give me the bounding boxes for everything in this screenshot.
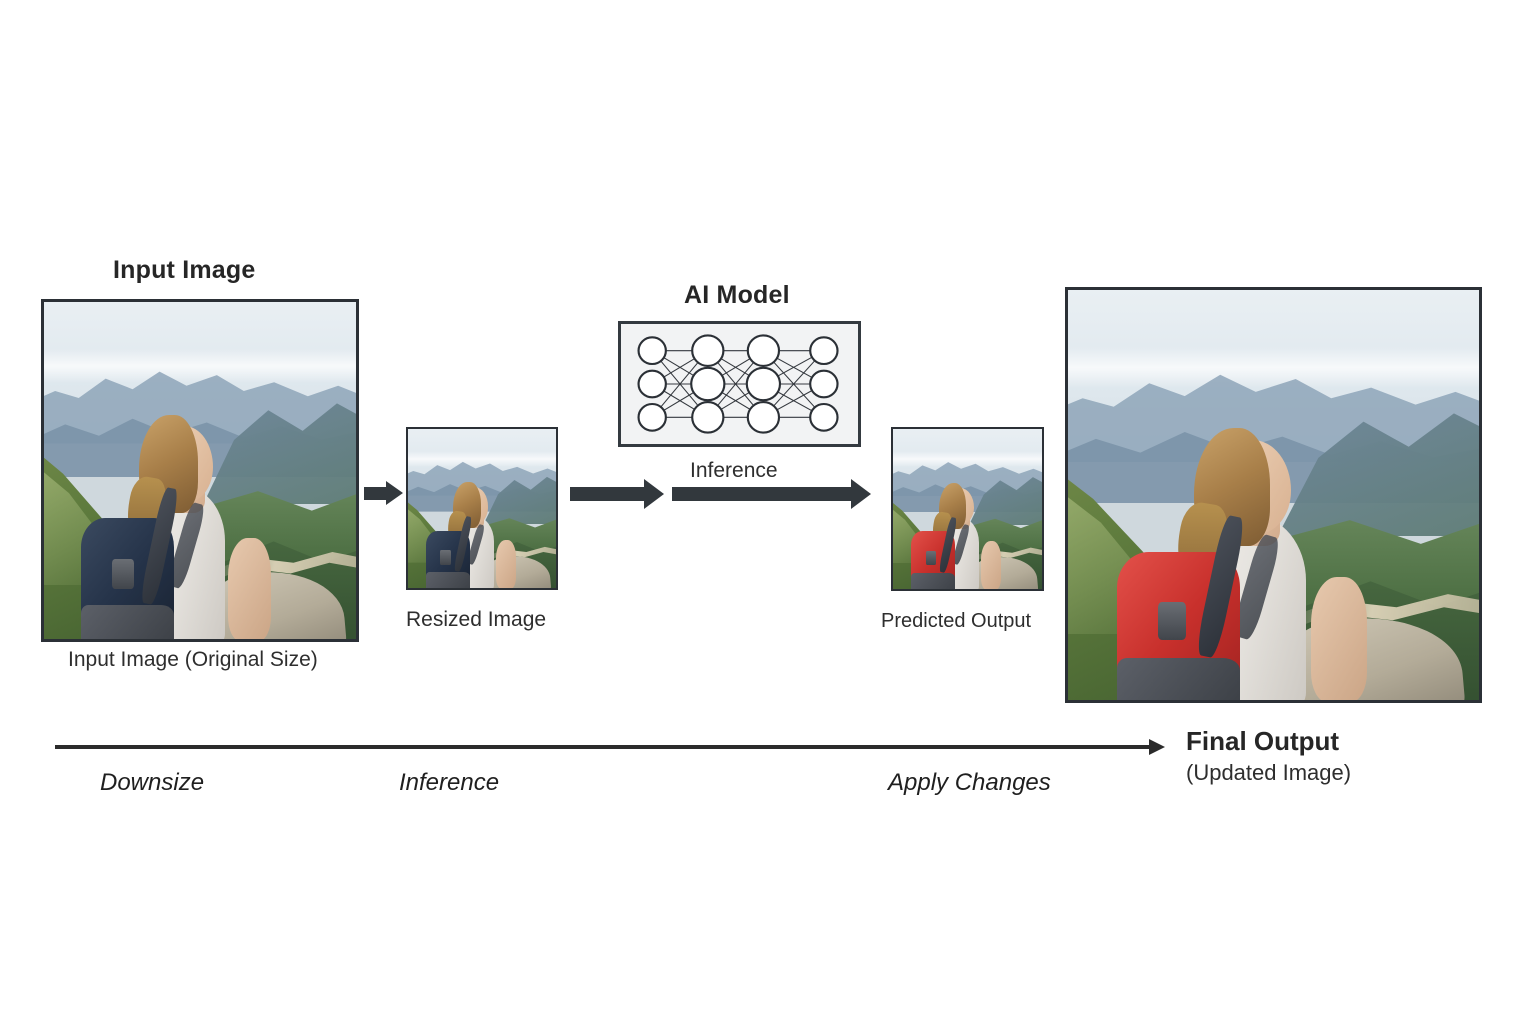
haze-band	[408, 451, 556, 467]
backpack-base	[1117, 658, 1239, 700]
haze-band	[1068, 347, 1479, 388]
backpack-buckle	[1158, 602, 1186, 639]
backpack-buckle	[112, 559, 133, 590]
final-output-photo	[1065, 287, 1482, 703]
predicted-output-photo	[891, 427, 1044, 591]
photo-scene-input	[44, 302, 356, 639]
backpack-base	[911, 573, 955, 589]
inference-caption: Inference	[690, 459, 778, 483]
resized-image-photo	[406, 427, 558, 590]
input-image-photo	[41, 299, 359, 642]
hiker-figure	[911, 471, 1003, 589]
hiker-arm	[981, 541, 1001, 589]
resized-image-caption: Resized Image	[406, 608, 546, 632]
input-image-caption: Input Image (Original Size)	[68, 648, 318, 672]
timeline-step-inference: Inference	[399, 769, 499, 797]
hiker-arm	[1311, 577, 1367, 700]
photo-scene-predicted	[893, 429, 1042, 589]
hiker-figure	[426, 470, 518, 588]
hiker-figure	[1117, 397, 1372, 700]
photo-scene-final	[1068, 290, 1479, 700]
backpack-buckle	[440, 550, 450, 564]
backpack-base	[81, 605, 174, 639]
timeline-step-downsize: Downsize	[100, 769, 204, 797]
hiker-figure	[81, 390, 274, 639]
timeline-step-apply-changes: Apply Changes	[888, 769, 1051, 797]
haze-band	[893, 451, 1042, 467]
input-image-title: Input Image	[113, 256, 255, 285]
backpack-buckle	[926, 551, 936, 566]
predicted-output-caption: Predicted Output	[881, 610, 1031, 633]
haze-band	[44, 349, 356, 383]
hiker-arm	[496, 540, 516, 588]
neural-network-icon	[621, 324, 858, 444]
ai-model-title: AI Model	[684, 281, 790, 310]
diagram-canvas: Input Image	[0, 0, 1536, 1024]
ai-model-box	[618, 321, 861, 447]
final-output-title: Final Output	[1186, 726, 1339, 757]
final-output-subtitle: (Updated Image)	[1186, 760, 1351, 786]
hiker-arm	[228, 538, 271, 639]
photo-scene-resized	[408, 429, 556, 588]
backpack-base	[426, 572, 470, 588]
